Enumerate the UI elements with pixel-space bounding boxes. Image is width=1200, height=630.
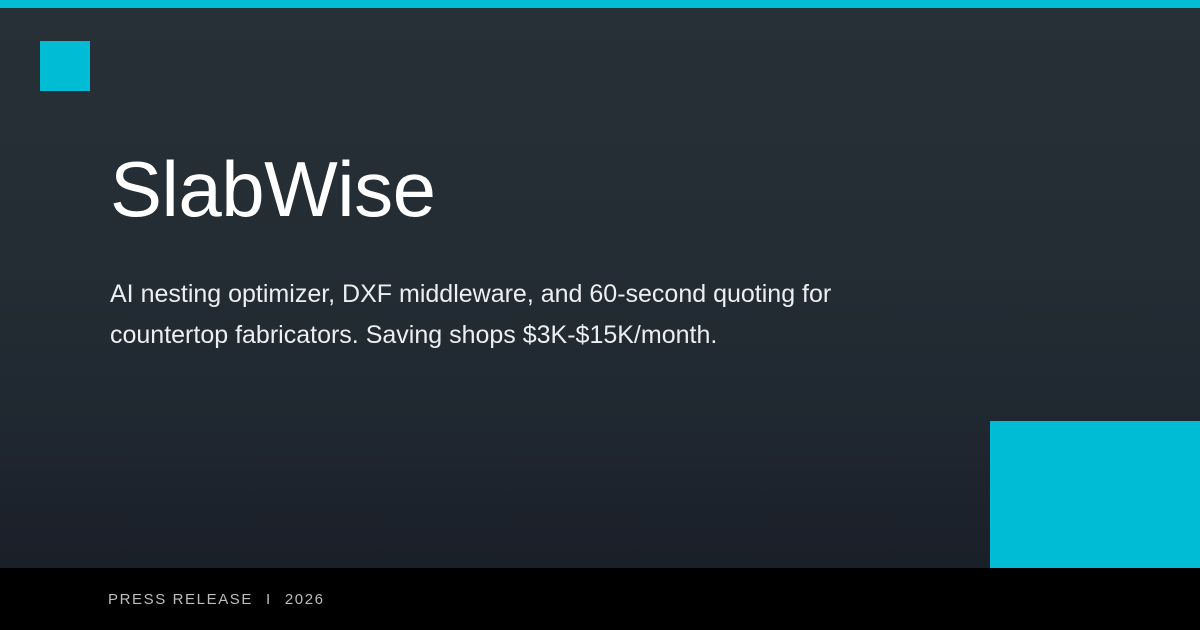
slide-footer: PRESS RELEASE I 2026 xyxy=(0,568,1200,630)
footer-content: PRESS RELEASE I 2026 xyxy=(108,568,325,630)
footer-separator: I xyxy=(253,591,285,608)
slide-subtitle: AI nesting optimizer, DXF middleware, an… xyxy=(110,274,950,356)
top-accent-rule xyxy=(0,0,1200,8)
footer-label: PRESS RELEASE xyxy=(108,591,253,608)
slide-content: SlabWise AI nesting optimizer, DXF middl… xyxy=(110,150,970,356)
accent-block-shape xyxy=(990,421,1200,568)
press-release-slide: SlabWise AI nesting optimizer, DXF middl… xyxy=(0,0,1200,630)
page-title: SlabWise xyxy=(110,150,970,228)
footer-year: 2026 xyxy=(285,591,325,608)
square-accent-mark-icon xyxy=(40,41,90,91)
